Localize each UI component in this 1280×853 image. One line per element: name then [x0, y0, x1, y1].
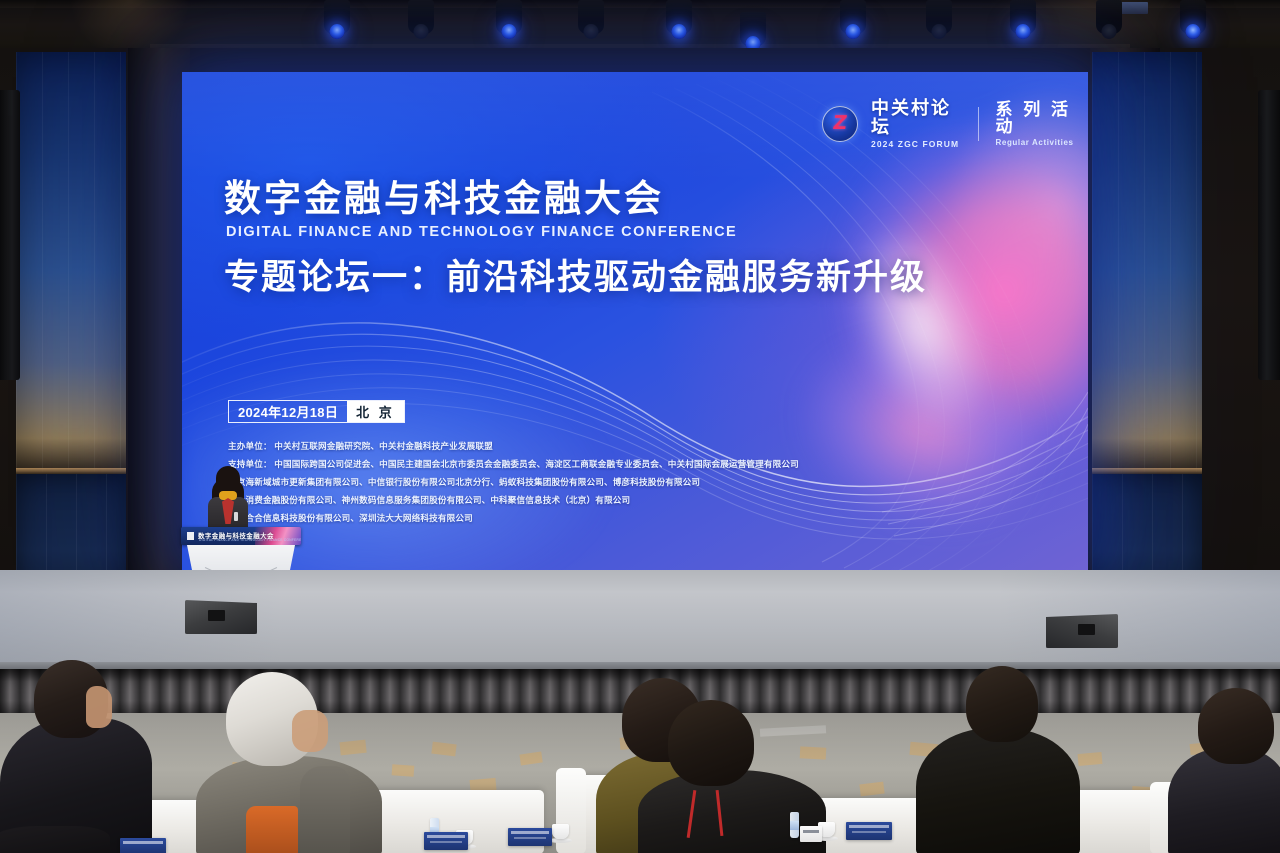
attendee-face-profile [86, 686, 112, 728]
name-card-text [849, 825, 889, 828]
conference-scene: Z 中关村论坛 2024 ZGC FORUM 系 列 活 动 Regular A… [0, 0, 1280, 853]
stage-light-icon [408, 0, 434, 34]
conference-title-en: DIGITAL FINANCE AND TECHNOLOGY FINANCE C… [226, 224, 737, 240]
speaker-badge [234, 512, 238, 521]
name-card-subtext [430, 841, 462, 843]
name-card [508, 828, 552, 846]
paper-card [800, 826, 822, 842]
monitor-grille [1078, 624, 1095, 635]
logo-divider [978, 107, 979, 141]
forum-series-cn: 系 列 活 动 [996, 101, 1088, 137]
forum-brand: 中关村论坛 2024 ZGC FORUM [871, 99, 961, 149]
wall-light-panel-left [16, 52, 126, 472]
logo-letter: Z [832, 114, 848, 133]
stage-light-icon [840, 0, 866, 34]
forum-series: 系 列 活 动 Regular Activities [996, 101, 1088, 148]
attendee-body [0, 826, 110, 853]
organizer-line: 北京海新域城市更新集团有限公司、中信银行股份有限公司北京分行、蚂蚁科技集团股份有… [228, 478, 918, 487]
attendee-head [966, 666, 1038, 742]
name-card [846, 822, 892, 840]
organizer-line: 马上消费金融股份有限公司、神州数码信息服务集团股份有限公司、中科聚信信息技术（北… [228, 496, 918, 505]
name-card-subtext [852, 831, 886, 833]
stage-monitor-speaker [185, 600, 257, 634]
forum-session-title: 专题论坛一：前沿科技驱动金融服务新升级 [224, 260, 927, 295]
attendee-scarf [246, 806, 298, 853]
organizer-list: 主办单位： 中关村互联网金融研究院、中关村金融科技产业发展联盟 支持单位： 中国… [228, 442, 918, 532]
organizer-line: 主办单位： 中关村互联网金融研究院、中关村金融科技产业发展联盟 [228, 442, 918, 451]
attendee-body [916, 728, 1080, 853]
speaker-stack-left [0, 90, 20, 380]
stage-edge [0, 662, 1280, 669]
organizer-line: 上海合合信息科技股份有限公司、深圳法大大网络科技有限公司 [228, 514, 918, 523]
paper-card-line [803, 830, 819, 833]
led-screen: Z 中关村论坛 2024 ZGC FORUM 系 列 活 动 Regular A… [182, 72, 1088, 570]
conference-title-cn: 数字金融与科技金融大会 [224, 180, 664, 217]
forum-brand-cn: 中关村论坛 [871, 99, 961, 137]
organizer-line: 支持单位： 中国国际跨国公司促进会、中国民主建国会北京市委员会金融委员会、海淀区… [228, 460, 918, 469]
water-bottle [790, 812, 799, 838]
name-card [424, 832, 468, 850]
stage-light-icon [926, 0, 952, 34]
stage-light-icon [1096, 0, 1122, 34]
attendee-head [1198, 688, 1274, 764]
name-card-text [427, 835, 465, 838]
podium-banner: 数字金融与科技金融大会 DIGITAL FINANCE AND TECHNOLO… [181, 527, 301, 545]
attendee-hand [292, 710, 328, 752]
stage-light-icon [324, 0, 350, 34]
coffee-cup [552, 824, 569, 839]
event-date: 2024年12月18日 [229, 401, 347, 422]
name-card [120, 838, 166, 853]
stage-light-icon [1010, 0, 1036, 34]
name-card-text [511, 831, 549, 834]
attendee-arm [300, 766, 350, 853]
speaker-stack-right [1258, 90, 1280, 380]
name-card-subtext [514, 837, 546, 839]
stage-light-icon [496, 0, 522, 34]
zgc-forum-mark-icon: Z [822, 106, 858, 142]
wall-light-panel-right [1092, 52, 1202, 472]
monitor-grille [208, 610, 225, 621]
attendee-head [668, 700, 754, 786]
stage-light-icon [1180, 0, 1206, 34]
date-location-badge: 2024年12月18日 北 京 [228, 400, 405, 423]
stage-light-icon [666, 0, 692, 34]
podium-banner-mark-icon [187, 532, 194, 540]
forum-brand-en: 2024 ZGC FORUM [871, 139, 961, 149]
stage-light-icon [578, 0, 604, 34]
stage-monitor-speaker [1046, 614, 1118, 648]
podium-banner-text-en: DIGITAL FINANCE AND TECHNOLOGY FINANCE C… [199, 538, 301, 542]
forum-logo: Z 中关村论坛 2024 ZGC FORUM 系 列 活 动 Regular A… [822, 99, 1088, 149]
attendee-body [1168, 748, 1280, 853]
event-city: 北 京 [347, 401, 404, 422]
stage-light-icon [740, 12, 766, 46]
name-card-text [123, 841, 163, 844]
forum-series-en: Regular Activities [996, 138, 1088, 147]
